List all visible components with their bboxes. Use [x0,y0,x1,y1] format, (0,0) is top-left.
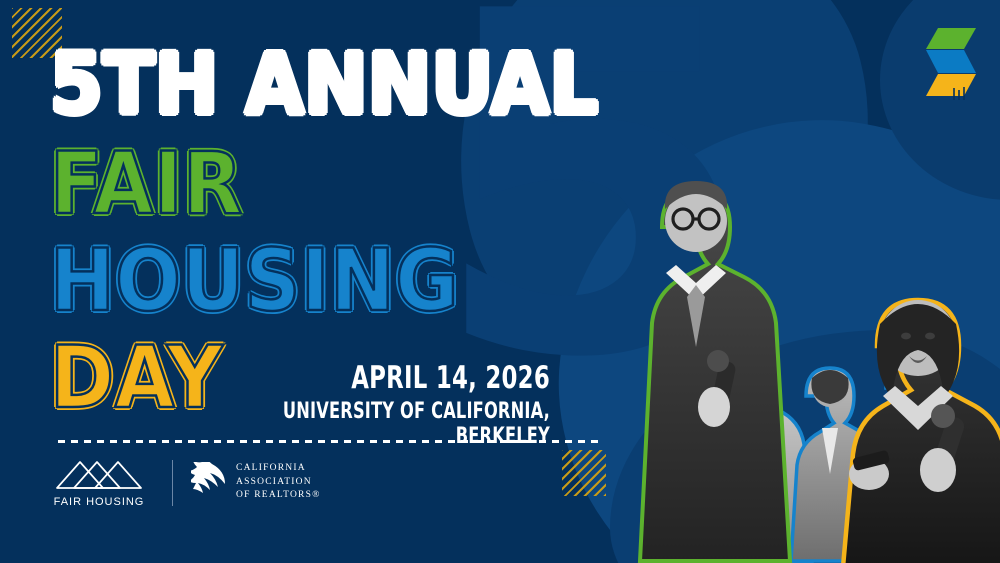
car-logo: CALIFORNIA ASSOCIATION OF REALTORS® [191,462,321,502]
headline-line-2: FAIR [50,148,243,222]
car-line-3: OF REALTORS® [236,489,321,502]
poster-canvas: 5 [0,0,1000,563]
fair-housing-wordmark: FAIR HOUSING [54,496,145,508]
dashed-divider [58,440,600,443]
car-line-1: CALIFORNIA [236,462,321,475]
headline-line-1: 5TH ANNUAL [50,48,598,120]
stacked-chevron-logo-icon [924,28,982,100]
fair-housing-logo: FAIR HOUSING [44,457,154,508]
eagle-wing-emblem-icon [191,462,227,502]
event-details: APRIL 14, 2026 UNIVERSITY OF CALIFORNIA,… [200,362,550,449]
lockup-divider [172,460,173,506]
photo-foreground-gold [835,258,1000,563]
car-line-2: ASSOCIATION [236,476,321,489]
logo-lockup: FAIR HOUSING CALIFORNIA ASSOCIATION OF R… [44,457,321,508]
three-peaks-roofline-icon [53,457,145,491]
event-date: APRIL 14, 2026 [263,362,550,395]
headline-line-4: DAY [50,342,223,416]
headline-line-3: HOUSING [50,245,459,319]
car-wordmark: CALIFORNIA ASSOCIATION OF REALTORS® [236,462,321,502]
